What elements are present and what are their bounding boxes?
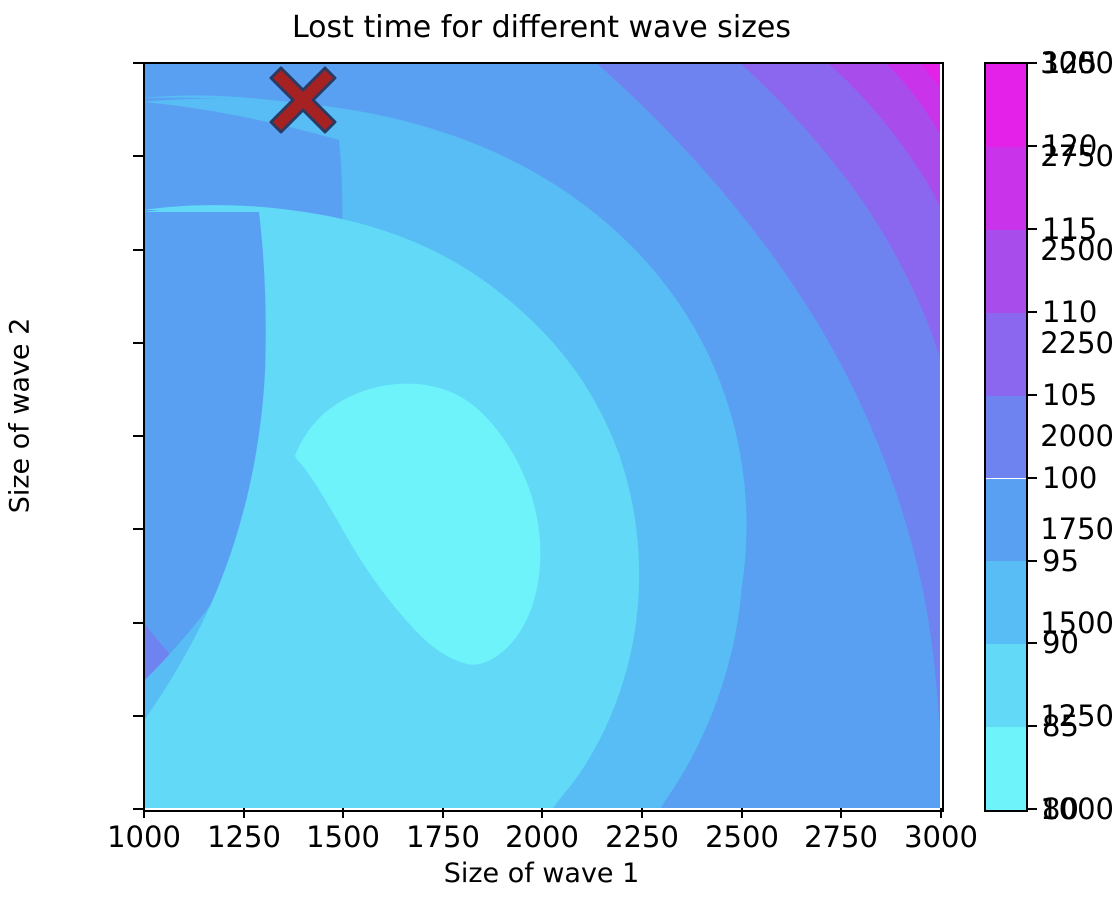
colorbar-gradient <box>986 64 1026 810</box>
colorbar-band-80-85 <box>986 727 1026 810</box>
colorbar-tick-label: 90 <box>1042 626 1079 660</box>
x-tick-mark <box>741 808 743 818</box>
colorbar-tick-label: 105 <box>1042 378 1097 412</box>
y-tick-mark <box>133 342 143 344</box>
colorbar-tick-label: 115 <box>1042 212 1097 246</box>
colorbar-tick-mark <box>1026 394 1037 396</box>
colorbar-band-110-115 <box>986 230 1026 313</box>
colorbar-band-115-120 <box>986 147 1026 230</box>
colorbar-band-95-100 <box>986 479 1026 562</box>
colorbar-tick-mark <box>1026 228 1037 230</box>
colorbar-tick-label: 125 <box>1042 46 1097 80</box>
contour-field <box>143 62 940 808</box>
y-tick-mark <box>133 62 143 64</box>
colorbar-tick-mark <box>1026 311 1037 313</box>
colorbar-band-105-110 <box>986 313 1026 396</box>
colorbar-tick-label: 80 <box>1042 792 1079 826</box>
x-tick-mark <box>541 808 543 818</box>
colorbar-tick-mark <box>1026 62 1037 64</box>
chart-title: Lost time for different wave sizes <box>143 10 940 46</box>
x-tick-mark <box>243 808 245 818</box>
colorbar-tick-mark <box>1026 145 1037 147</box>
x-tick-mark <box>840 808 842 818</box>
x-tick-mark <box>143 808 145 818</box>
y-tick-mark <box>133 528 143 530</box>
x-tick-mark <box>641 808 643 818</box>
colorbar-tick-label: 95 <box>1042 544 1079 578</box>
colorbar-band-100-105 <box>986 396 1026 479</box>
y-tick-mark <box>133 435 143 437</box>
colorbar-tick-mark <box>1026 560 1037 562</box>
contour-plot-area <box>143 62 940 808</box>
colorbar-tick-label: 85 <box>1042 709 1079 743</box>
colorbar <box>984 62 1028 812</box>
colorbar-tick-mark <box>1026 477 1037 479</box>
colorbar-tick-label: 100 <box>1042 461 1097 495</box>
colorbar-tick-mark <box>1026 808 1037 810</box>
x-tick-mark <box>940 808 942 818</box>
y-axis-label: Size of wave 2 <box>5 266 36 566</box>
optimum-marker-x <box>263 62 343 140</box>
y-tick-mark <box>133 808 143 810</box>
x-axis-label: Size of wave 1 <box>143 858 940 889</box>
colorbar-band-120-125 <box>986 64 1026 147</box>
colorbar-band-85-90 <box>986 644 1026 727</box>
x-tick-label: 3000 <box>871 820 1011 854</box>
colorbar-band-90-95 <box>986 561 1026 644</box>
y-tick-mark <box>133 155 143 157</box>
y-tick-mark <box>133 622 143 624</box>
figure-canvas: Lost time for different wave sizes <box>0 0 1114 900</box>
y-tick-mark <box>133 715 143 717</box>
y-tick-mark <box>133 249 143 251</box>
x-tick-mark <box>342 808 344 818</box>
colorbar-tick-mark <box>1026 725 1037 727</box>
colorbar-tick-label: 110 <box>1042 295 1097 329</box>
colorbar-tick-mark <box>1026 642 1037 644</box>
colorbar-tick-label: 120 <box>1042 129 1097 163</box>
x-tick-mark <box>442 808 444 818</box>
